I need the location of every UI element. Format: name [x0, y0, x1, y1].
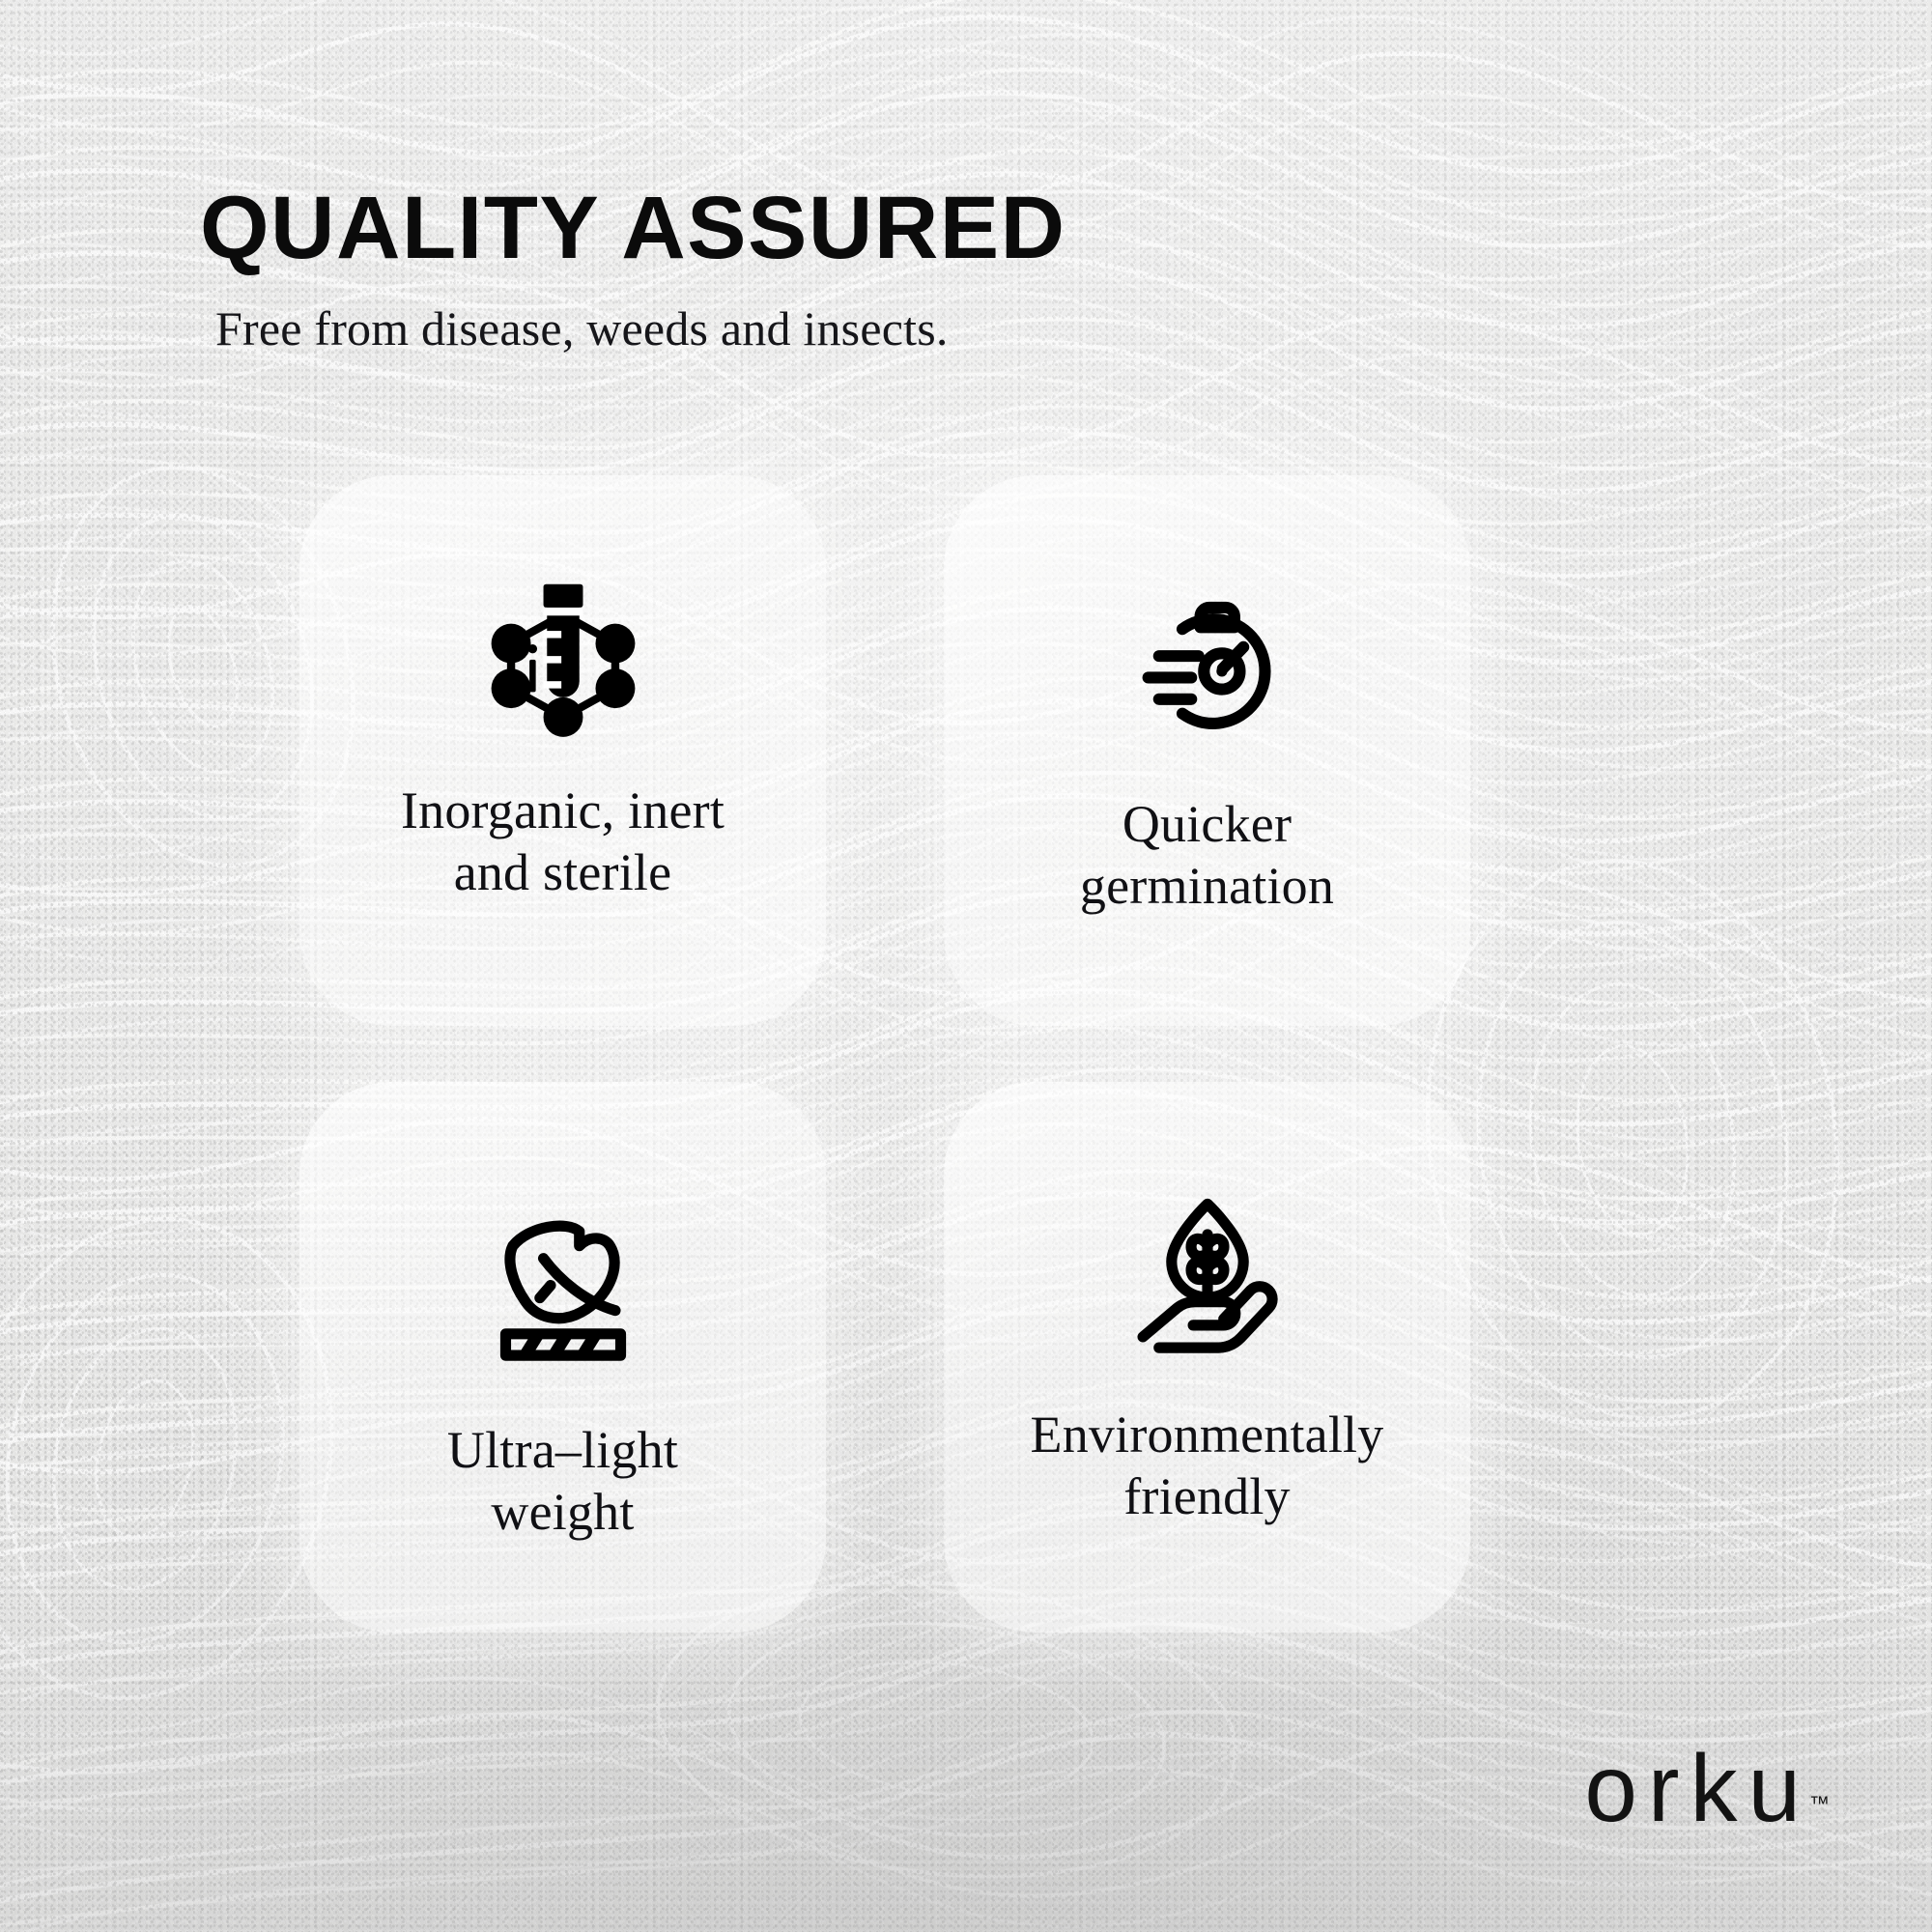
feature-card-ultralight[interactable]: Ultra–light weight [299, 1082, 826, 1633]
feature-card-grid: Inorganic, inert and sterile [299, 475, 1652, 1633]
feature-label-line1: Ultra–light [447, 1421, 678, 1479]
feature-card-eco-friendly[interactable]: Environmentally friendly [944, 1082, 1470, 1633]
fast-stopwatch-icon [1118, 568, 1297, 748]
page-title: QUALITY ASSURED [200, 184, 1066, 272]
page-subtitle: Free from disease, weeds and insects. [200, 272, 1066, 353]
feature-card-inorganic[interactable]: Inorganic, inert and sterile [299, 475, 826, 1026]
molecule-test-tube-icon [473, 568, 653, 748]
feature-label: Ultra–light weight [447, 1420, 678, 1543]
poster-canvas: QUALITY ASSURED Free from disease, weeds… [0, 0, 1932, 1932]
brand-name: orku [1584, 1745, 1811, 1832]
feature-label: Environmentally friendly [1031, 1405, 1384, 1527]
feather-on-panel-icon [473, 1190, 653, 1370]
brand-logo: orku ™ [1584, 1745, 1830, 1832]
feature-label-line1: Environmentally [1031, 1406, 1384, 1463]
feature-label-line2: friendly [1123, 1467, 1291, 1525]
feature-label-line2: weight [491, 1483, 634, 1541]
feature-label: Quicker germination [1080, 794, 1334, 917]
feature-label-line2: germination [1080, 857, 1334, 915]
feature-label: Inorganic, inert and sterile [401, 781, 724, 903]
feature-label-line2: and sterile [454, 843, 672, 901]
trademark-symbol: ™ [1809, 1793, 1830, 1816]
feature-label-line1: Quicker [1122, 795, 1292, 853]
header-block: QUALITY ASSURED Free from disease, weeds… [200, 184, 1066, 353]
leaf-in-hand-icon [1118, 1182, 1297, 1362]
feature-card-germination[interactable]: Quicker germination [944, 475, 1470, 1026]
feature-label-line1: Inorganic, inert [401, 781, 724, 839]
